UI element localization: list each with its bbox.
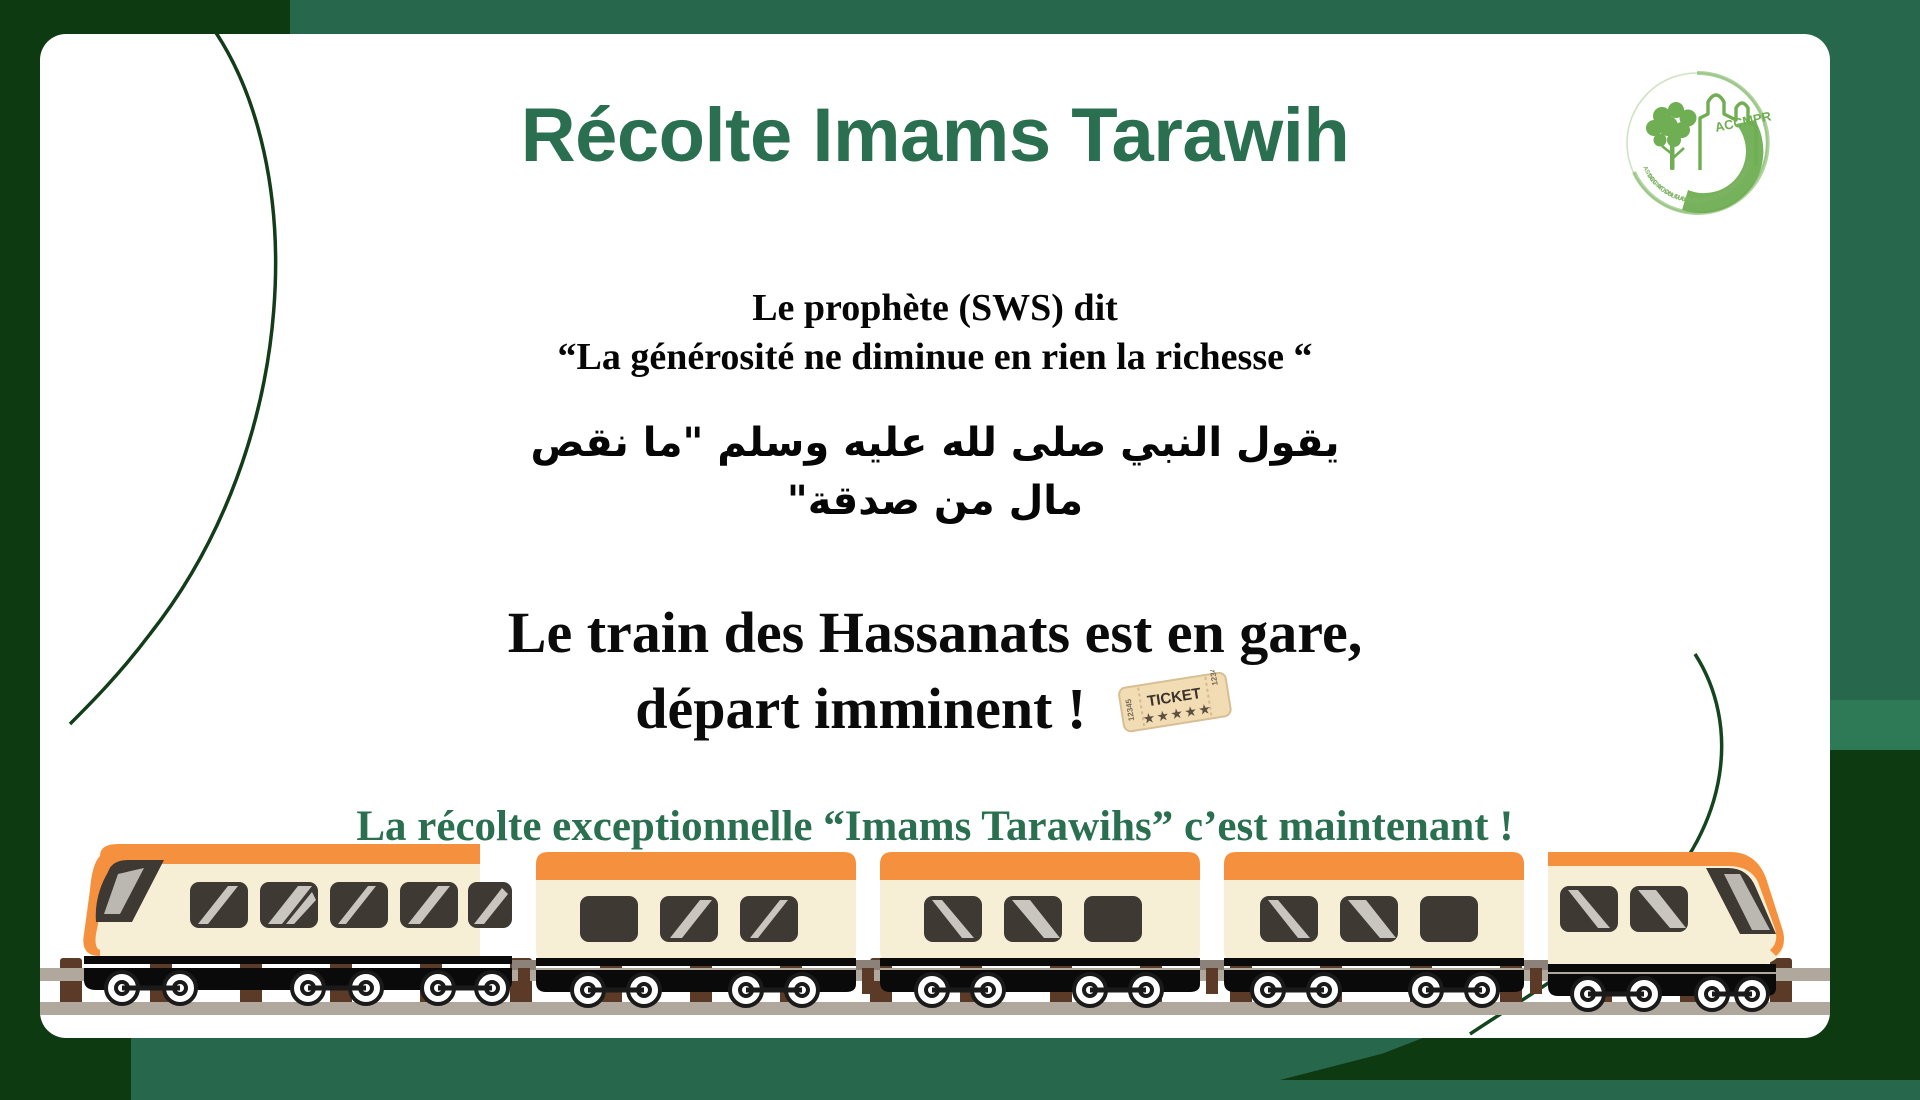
train-car-2 [536, 852, 856, 992]
page-title: Récolte Imams Tarawih [40, 92, 1830, 179]
ticket-svg: TICKET ★ ★ ★ ★ ★ 12345 12345 [1115, 670, 1235, 736]
headline-line-2: départ imminent ! [635, 676, 1086, 741]
train-car-1 [83, 844, 512, 990]
car-windows-4 [1260, 896, 1478, 942]
car-windows-3 [924, 896, 1142, 942]
logo-svg: ACCMPR ASSOCIATION CULTUELLE ET CULTUREL… [1616, 62, 1778, 224]
train-car-3 [880, 852, 1200, 992]
hadith-arabic-line2: مال من صدقة" [400, 472, 1470, 530]
organization-logo: ACCMPR ASSOCIATION CULTUELLE ET CULTUREL… [1616, 62, 1778, 224]
headline-line-1: Le train des Hassanats est en gare, [508, 600, 1362, 665]
hadith-arabic-line1: يقول النبي صلى لله عليه وسلم "ما نقص [400, 414, 1470, 472]
headline-block: Le train des Hassanats est en gare, dépa… [220, 596, 1650, 754]
train-svg [40, 838, 1830, 1038]
car-roof-3 [880, 852, 1200, 880]
ticket-icon: TICKET ★ ★ ★ ★ ★ 12345 12345 [1115, 670, 1235, 754]
car-roof-4 [1224, 852, 1524, 880]
hadith-intro-fr: Le prophète (SWS) dit [40, 284, 1830, 333]
train-illustration [40, 838, 1830, 1038]
train-car-4 [1224, 852, 1524, 992]
hadith-french-block: Le prophète (SWS) dit “La générosité ne … [40, 284, 1830, 383]
train-car-5 [1548, 852, 1784, 996]
hadith-arabic-block: يقول النبي صلى لله عليه وسلم "ما نقص مال… [400, 414, 1470, 530]
poster-card: Récolte Imams Tarawih [40, 34, 1830, 1038]
hadith-quote-fr: “La générosité ne diminue en rien la ric… [40, 333, 1830, 382]
car-windows-2 [580, 896, 798, 942]
car-roof-2 [536, 852, 856, 880]
